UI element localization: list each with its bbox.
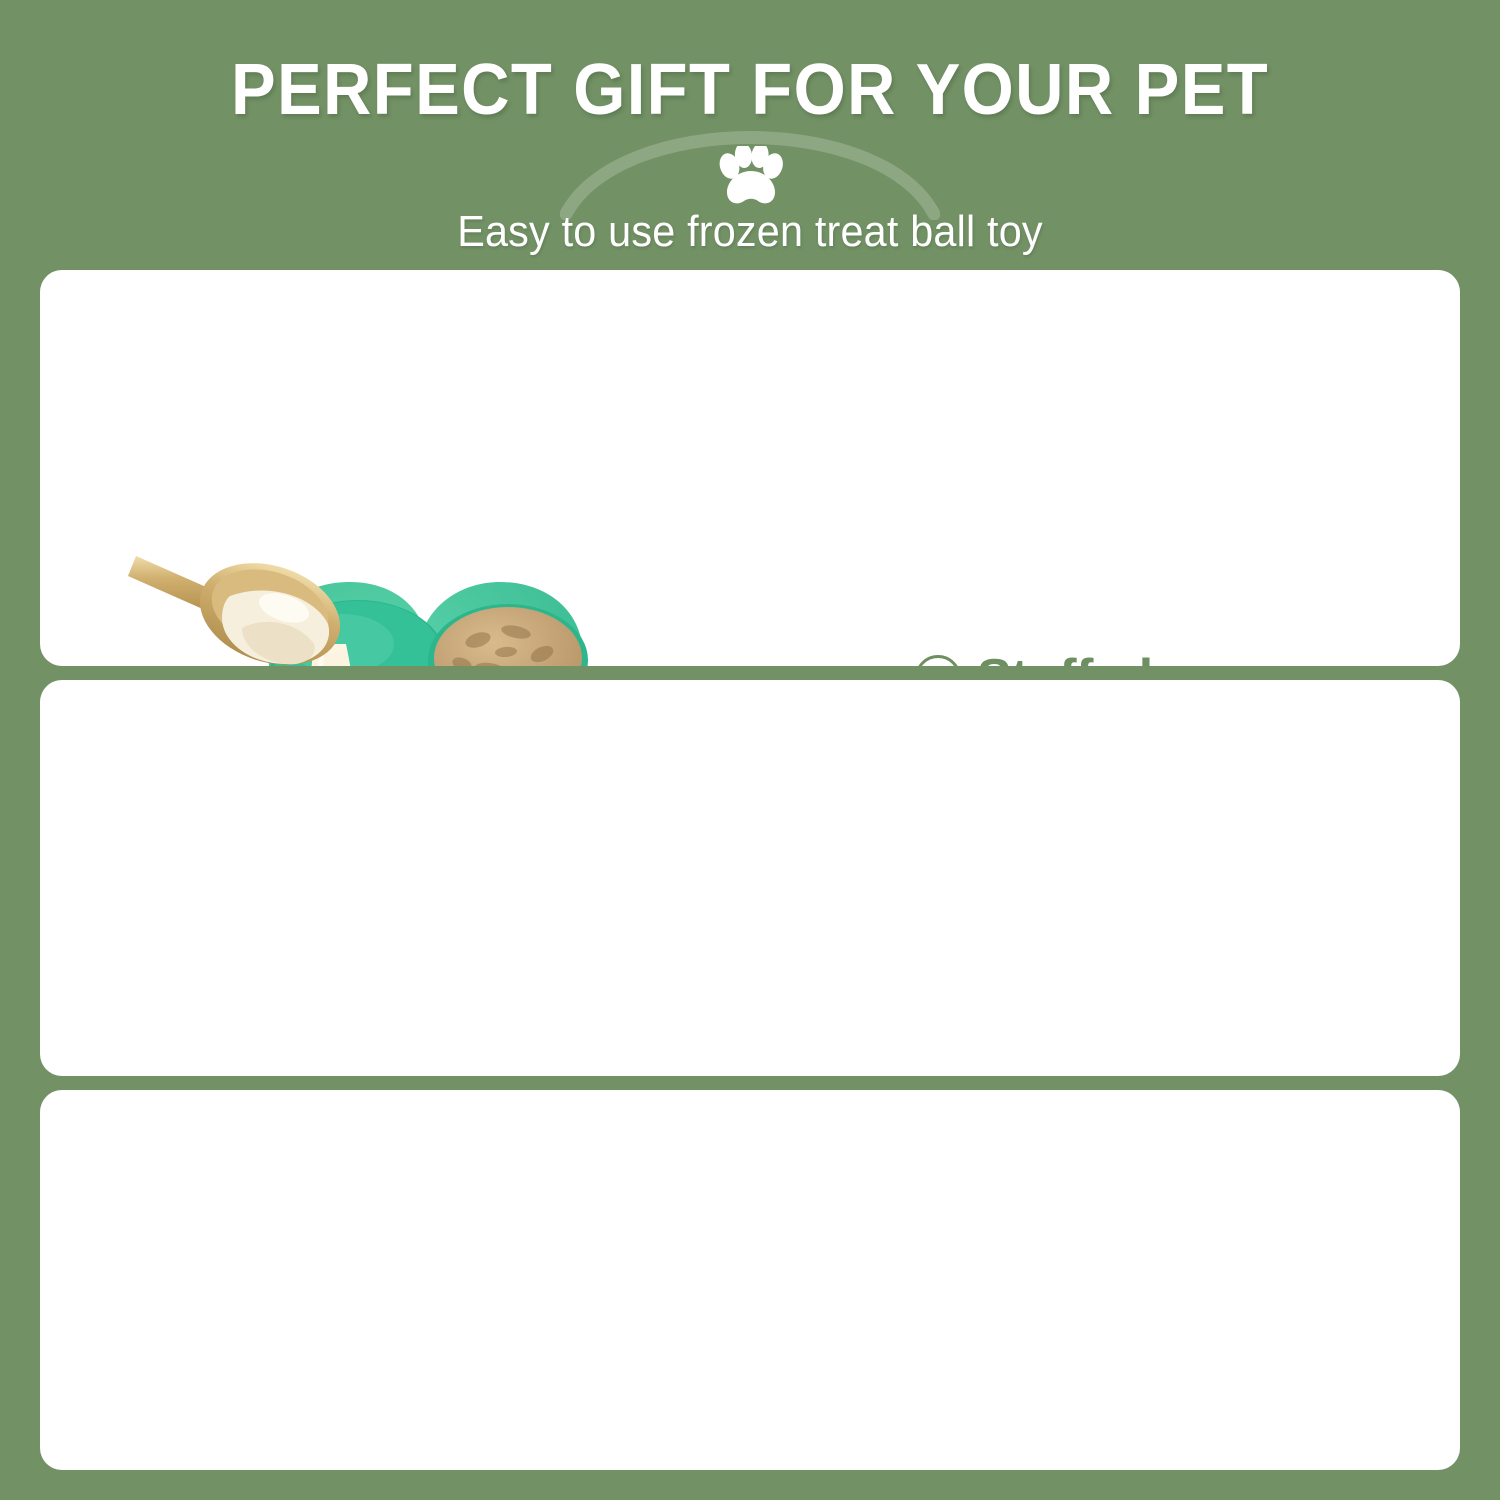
tray-fill-illustration	[118, 552, 648, 666]
step-card-feed: 3 Feed Put the frozen treats inside the …	[40, 1090, 1460, 1470]
header-banner: PERFECT GIFT FOR YOUR PET Easy to use fr…	[0, 0, 1500, 268]
step-card-frozen: 2 Frozen Put the tray in the freezer	[40, 680, 1460, 1076]
step-card-stuffed: 1 Stuffed Fill with treats your dog love…	[40, 270, 1460, 666]
paw-print-icon	[712, 146, 788, 208]
page-subtitle: Easy to use frozen treat ball toy	[45, 208, 1455, 256]
page-title: PERFECT GIFT FOR YOUR PET	[53, 54, 1448, 126]
step-1-title: Stuffed	[977, 652, 1153, 666]
step-1-text-block: 1 Stuffed Fill with treats your dog love…	[915, 652, 1395, 666]
step-1-number-badge: 1	[915, 655, 961, 666]
step-1-heading: 1 Stuffed	[915, 652, 1395, 666]
